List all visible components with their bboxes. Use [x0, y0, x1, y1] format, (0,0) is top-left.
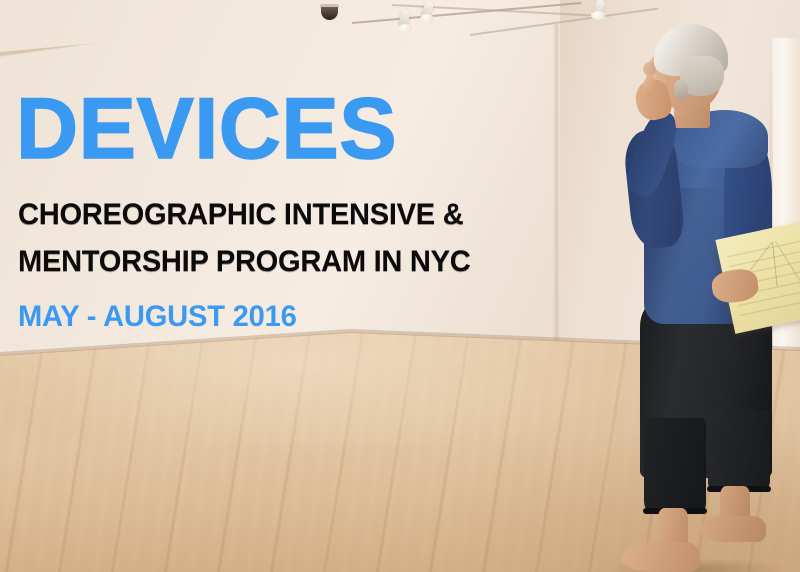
poster-image: DEVICES CHOREOGRAPHIC INTENSIVE & MENTOR… [0, 0, 800, 572]
poster-subtitle-line-1: CHOREOGRAPHIC INTENSIVE & [18, 200, 463, 230]
text-overlay: DEVICES CHOREOGRAPHIC INTENSIVE & MENTOR… [0, 0, 800, 572]
poster-title: DEVICES [16, 86, 397, 172]
poster-subtitle-line-2: MENTORSHIP PROGRAM IN NYC [18, 247, 470, 277]
poster-dates: MAY - AUGUST 2016 [18, 302, 297, 332]
